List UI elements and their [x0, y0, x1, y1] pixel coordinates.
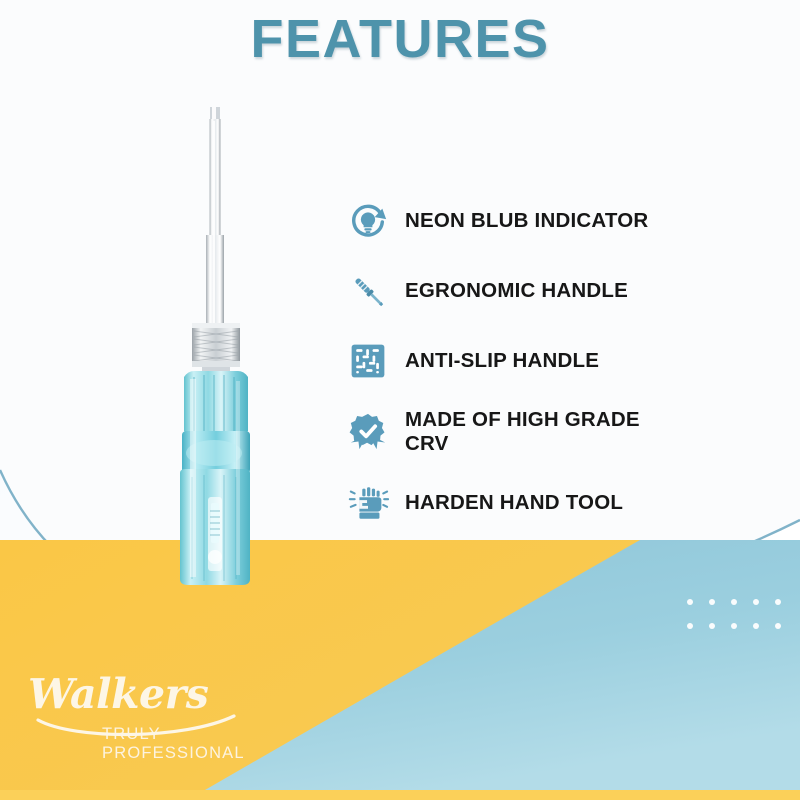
logo-swoosh	[34, 714, 244, 740]
feature-item-anti-slip-handle[interactable]: ANTI-SLIP HANDLE	[345, 338, 675, 384]
product-image-voltage-tester	[150, 105, 320, 585]
feature-item-ergonomic-handle[interactable]: EGRONOMIC HANDLE	[345, 268, 675, 314]
anti-slip-grip-icon	[345, 338, 391, 384]
feature-item-high-grade-crv[interactable]: MADE OF HIGH GRADE CRV	[345, 408, 675, 456]
page-title-overlay: FEATURES	[0, 8, 800, 70]
feature-label: MADE OF HIGH GRADE CRV	[405, 408, 675, 456]
feature-label: HARDEN HAND TOOL	[405, 491, 623, 515]
feature-infographic: FEATURES	[0, 0, 800, 800]
feature-label: EGRONOMIC HANDLE	[405, 279, 628, 303]
quality-badge-icon	[345, 409, 391, 455]
feature-label: NEON BLUB INDICATOR	[405, 209, 648, 233]
neon-bulb-indicator-icon	[345, 198, 391, 244]
brand-name: Walkers	[28, 674, 298, 715]
screwdriver-icon	[345, 268, 391, 314]
feature-item-neon-bulb[interactable]: NEON BLUB INDICATOR	[345, 198, 675, 244]
strong-fist-icon	[345, 480, 391, 526]
feature-item-harden-hand-tool[interactable]: HARDEN HAND TOOL	[345, 480, 675, 526]
brand-logo: Walkers TRULY PROFESSIONAL	[28, 674, 298, 752]
feature-list: NEON BLUB INDICATOR E	[345, 198, 675, 526]
feature-label: ANTI-SLIP HANDLE	[405, 349, 599, 373]
